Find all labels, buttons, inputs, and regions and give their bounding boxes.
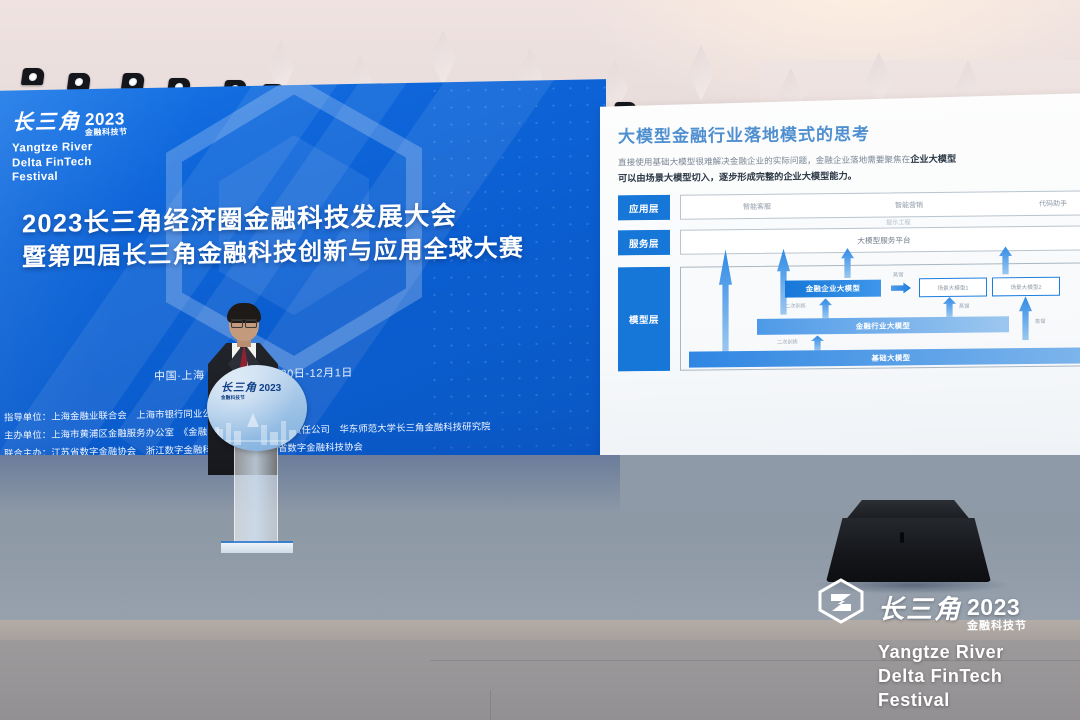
arrow-note-distill: 蒸馏 — [893, 272, 903, 279]
watermark-chinese: 长三角 — [878, 596, 962, 622]
watermark-en-3: Festival — [878, 689, 1027, 713]
monitor-front-face — [826, 518, 991, 582]
podium-base — [221, 543, 293, 553]
backdrop-headline: 2023长三角经济圈金融科技发展大会 暨第四届长三角金融科技创新与应用全球大赛 — [22, 198, 582, 274]
layer-body-application: 智能客服 智能营销 代码助手 — [680, 191, 1080, 220]
prompt-engineering-label: 提示工程 — [886, 217, 911, 226]
watermark-year: 2023 — [967, 596, 1027, 619]
flow-arrow-up-icon — [811, 335, 824, 351]
corner-watermark: 长三角 2023 金融科技节 Yangtze River Delta FinTe… — [818, 578, 1070, 710]
watermark-en-2: Delta FinTech — [878, 665, 1027, 689]
stage-photo: 长三角2023金融科技节 Yangtze River Delta FinTech… — [0, 0, 1080, 720]
model-box-foundation: 基础大模型 — [689, 348, 1080, 368]
podium-logo: 长三角2023 金融科技节 — [221, 379, 281, 401]
presentation-slide: 大模型金融行业落地模式的思考 直接使用基础大模型很难解决金融企业的实际问题，金融… — [600, 93, 1080, 477]
podium: 长三角2023 金融科技节 — [207, 365, 307, 565]
distill-arrow-right-icon — [891, 282, 911, 293]
podium-logo-chinese: 长三角 — [221, 382, 257, 394]
arrow-note-distill-3: 蒸馏 — [1035, 318, 1045, 325]
slide-lead: 直接使用基础大模型很难解决金融企业的实际问题，金融企业落地需要聚焦在企业大模型 … — [618, 149, 1080, 186]
model-box-scenario-2: 场景大模型2 — [992, 277, 1060, 297]
layer-row-model: 模型层 金融企业大模型 蒸馏 场景大模型1 场景大模型2 — [618, 263, 1080, 372]
podium-logo-year: 2023 — [259, 383, 281, 394]
watermark-en-1: Yangtze River — [878, 641, 1027, 665]
backdrop-logo-year: 2023 — [85, 110, 128, 128]
flow-arrow-up-icon — [1019, 296, 1032, 340]
slide-lead-bold-tail: 企业大模型 — [910, 154, 956, 164]
arrow-note-distill-2: 蒸馏 — [959, 303, 969, 310]
slide-lead-line2: 可以由场景大模型切入，逐步形成完整的企业大模型能力。 — [618, 171, 857, 184]
flow-arrow-up-icon — [819, 298, 832, 318]
backdrop-logo-en-3: Festival — [12, 169, 128, 186]
watermark-text: 长三角 2023 金融科技节 Yangtze River Delta FinTe… — [878, 596, 1027, 712]
skyline-graphic-icon — [215, 409, 299, 445]
backdrop-logo-chinese: 长三角 — [12, 111, 81, 133]
slide-lead-normal: 直接使用基础大模型很难解决金融企业的实际问题，金融企业落地需要聚焦在 — [618, 154, 910, 167]
watermark-chinese-sub: 金融科技节 — [967, 621, 1027, 632]
model-box-industry: 金融行业大模型 — [757, 316, 1009, 335]
stage-floor-shadow — [0, 455, 620, 515]
flow-arrow-up-icon — [719, 249, 732, 353]
stage-light-icon — [67, 73, 91, 90]
layer-row-application: 应用层 智能客服 智能营销 代码助手 — [618, 191, 1080, 221]
app-cell-2: 智能营销 — [895, 200, 923, 210]
slide-title: 大模型金融行业落地模式的思考 — [618, 117, 1080, 147]
layer-tag-model: 模型层 — [618, 267, 670, 372]
podium-logo-sub: 金融科技节 — [221, 396, 281, 401]
arrow-note-retrain: 二次训练 — [785, 303, 806, 310]
layer-tag-application: 应用层 — [618, 195, 670, 221]
slide-layer-diagram: 应用层 智能客服 智能营销 代码助手 服务层 提示工程 大模型服务平台 — [618, 191, 1080, 372]
backdrop-location: 中国·上海 — [154, 370, 205, 383]
glasses-icon — [231, 319, 257, 325]
model-box-enterprise: 金融企业大模型 — [785, 280, 881, 298]
podium-front-panel: 长三角2023 金融科技节 — [207, 365, 307, 451]
backdrop-logo-chinese-sub: 金融科技节 — [85, 128, 128, 137]
service-platform-label: 大模型服务平台 — [857, 234, 910, 246]
app-cell-1: 智能客服 — [743, 201, 771, 211]
stage-light-icon — [21, 68, 45, 85]
podium-stem — [234, 443, 278, 545]
backdrop-logo: 长三角2023金融科技节 Yangtze River Delta FinTech… — [12, 110, 128, 185]
flow-arrow-up-icon — [943, 297, 956, 317]
arrow-note-retrain-2: 二次训练 — [777, 339, 798, 346]
festival-mark-icon — [818, 578, 864, 624]
monitor-handle-slot — [900, 532, 904, 543]
stage-floor-monitor — [826, 500, 991, 586]
layer-tag-service: 服务层 — [618, 230, 670, 256]
app-cell-3: 代码助手 — [1039, 198, 1067, 208]
layer-body-model: 金融企业大模型 蒸馏 场景大模型1 场景大模型2 二次训练 蒸馏 蒸馏 — [680, 263, 1080, 371]
layer-body-service: 提示工程 大模型服务平台 — [680, 226, 1080, 255]
model-box-scenario-1: 场景大模型1 — [919, 278, 987, 298]
carpet-seam — [490, 690, 491, 720]
